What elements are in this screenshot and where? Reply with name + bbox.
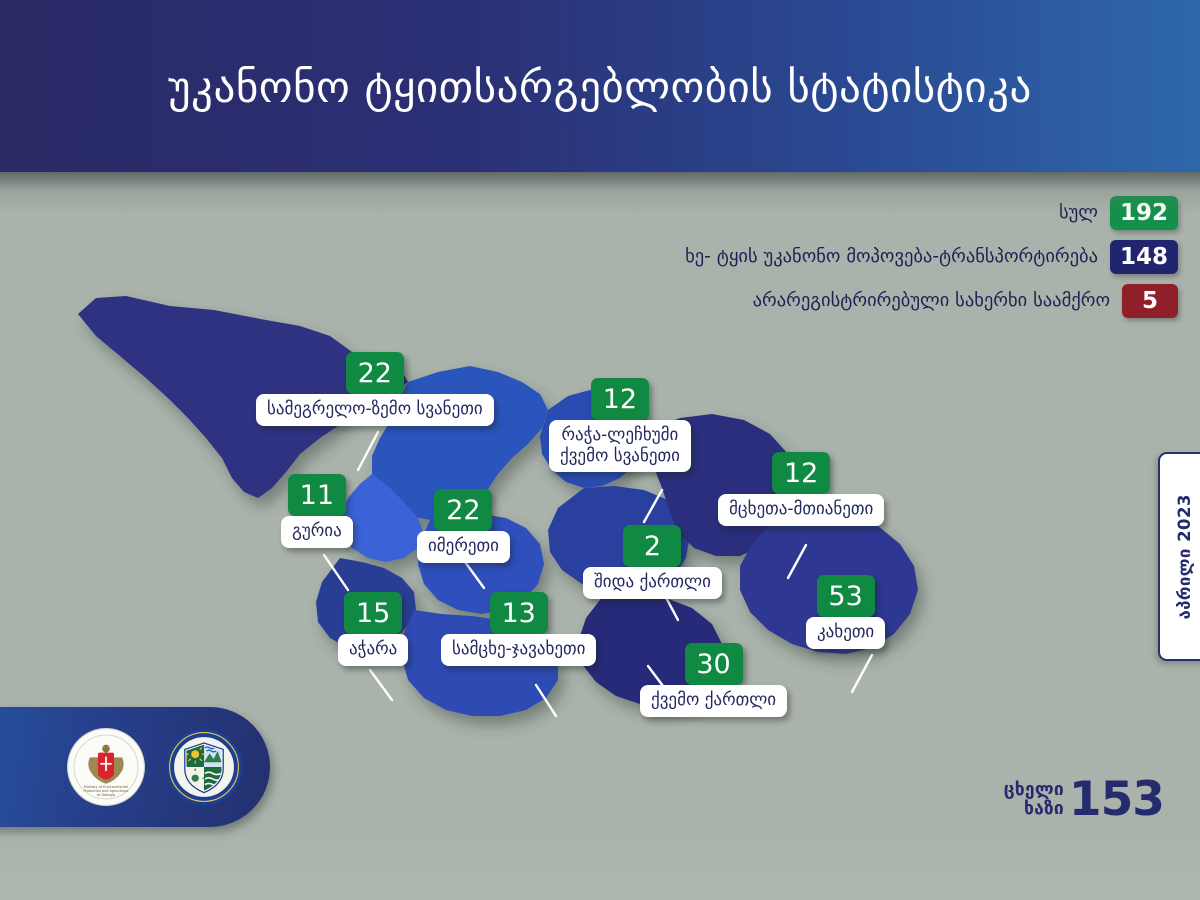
map-pin-adjara[interactable]: 15 აჭარა xyxy=(338,592,408,666)
legend-row-total: სულ 192 xyxy=(1059,196,1178,230)
hotline-label-line1: ცხელი xyxy=(1004,781,1064,799)
map-pin-label: შიდა ქართლი xyxy=(583,567,722,599)
bottom-vignette xyxy=(0,830,1200,900)
map-pin-value: 13 xyxy=(490,592,548,634)
hotline-label: ცხელი ხაზი xyxy=(1004,781,1064,817)
map-pin-label: კახეთი xyxy=(806,617,885,649)
department-of-environmental-supervision-seal-icon xyxy=(164,727,244,807)
map-pin-value: 53 xyxy=(817,575,875,617)
infographic-canvas: უკანონო ტყითსარგებლობის სტატისტიკა xyxy=(0,0,1200,900)
map-pin-kakheti[interactable]: 53 კახეთი xyxy=(806,575,885,649)
map-pin-value: 12 xyxy=(591,378,649,420)
map-pin-guria[interactable]: 11 გურია xyxy=(281,474,353,548)
legend-value-badge: 5 xyxy=(1122,284,1178,318)
map-pin-label: იმერეთი xyxy=(417,531,510,563)
ministry-of-environmental-protection-and-agriculture-seal-icon: Ministry of Environmental Protection and… xyxy=(66,727,146,807)
logo-bar: Ministry of Environmental Protection and… xyxy=(0,707,270,827)
map-pin-kvemo-kartli[interactable]: 30 ქვემო ქართლი xyxy=(640,643,787,717)
map-pin-label: მცხეთა-მთიანეთი xyxy=(718,494,884,526)
page-title: უკანონო ტყითსარგებლობის სტატისტიკა xyxy=(0,0,1200,172)
map-pin-label: რაჭა-ლეჩხუმი ქვემო სვანეთი xyxy=(549,420,691,472)
map-pin-shida-kartli[interactable]: 2 შიდა ქართლი xyxy=(583,525,722,599)
legend-row-transport: ხე- ტყის უკანონო მოპოვება-ტრანსპორტირება… xyxy=(685,240,1178,274)
map-pin-racha-lechkhumi-kvemo-svaneti[interactable]: 12 რაჭა-ლეჩხუმი ქვემო სვანეთი xyxy=(549,378,691,472)
hotline: ცხელი ხაზი 153 xyxy=(1004,778,1164,821)
legend-label: სულ xyxy=(1059,204,1098,223)
legend-value-badge: 148 xyxy=(1110,240,1178,274)
map-pin-label: აჭარა xyxy=(338,634,408,666)
map-pin-mtskheta-mtianeti[interactable]: 12 მცხეთა-მთიანეთი xyxy=(718,452,884,526)
map-pin-value: 2 xyxy=(623,525,681,567)
hotline-label-line2: ხაზი xyxy=(1004,800,1064,818)
map-pin-value: 12 xyxy=(772,452,830,494)
svg-text:of Georgia: of Georgia xyxy=(97,793,115,797)
map-pin-label-line2: ქვემო სვანეთი xyxy=(560,446,680,466)
map-pin-label: სამეგრელო-ზემო სვანეთი xyxy=(256,394,494,426)
map-pin-samegrelo-zemo-svaneti[interactable]: 22 სამეგრელო-ზემო სვანეთი xyxy=(256,352,494,426)
map-pin-value: 15 xyxy=(344,592,402,634)
header-banner: უკანონო ტყითსარგებლობის სტატისტიკა xyxy=(0,0,1200,172)
date-badge-text: აპრილი 2023 xyxy=(1175,494,1194,619)
map-pin-value: 30 xyxy=(685,643,743,685)
legend-label: არარეგისტრირებული სახერხი საამქრო xyxy=(753,292,1110,311)
date-badge: აპრილი 2023 xyxy=(1158,452,1200,661)
map-pin-value: 22 xyxy=(346,352,404,394)
legend-value-badge: 192 xyxy=(1110,196,1178,230)
map-pin-label-line1: რაჭა-ლეჩხუმი xyxy=(562,425,679,445)
map-pin-samtskhe-javakheti[interactable]: 13 სამცხე-ჯავახეთი xyxy=(441,592,596,666)
map-pin-imereti[interactable]: 22 იმერეთი xyxy=(417,489,510,563)
legend-label: ხე- ტყის უკანონო მოპოვება-ტრანსპორტირება xyxy=(685,248,1098,267)
map-pin-label: გურია xyxy=(281,516,353,548)
hotline-number: 153 xyxy=(1069,778,1164,821)
map-pin-label: სამცხე-ჯავახეთი xyxy=(441,634,596,666)
map-pin-label: ქვემო ქართლი xyxy=(640,685,787,717)
map-pin-value: 22 xyxy=(434,489,492,531)
map-pin-value: 11 xyxy=(288,474,346,516)
legend-row-unregistered: არარეგისტრირებული სახერხი საამქრო 5 xyxy=(753,284,1178,318)
legend: სულ 192 ხე- ტყის უკანონო მოპოვება-ტრანსპ… xyxy=(685,196,1178,318)
